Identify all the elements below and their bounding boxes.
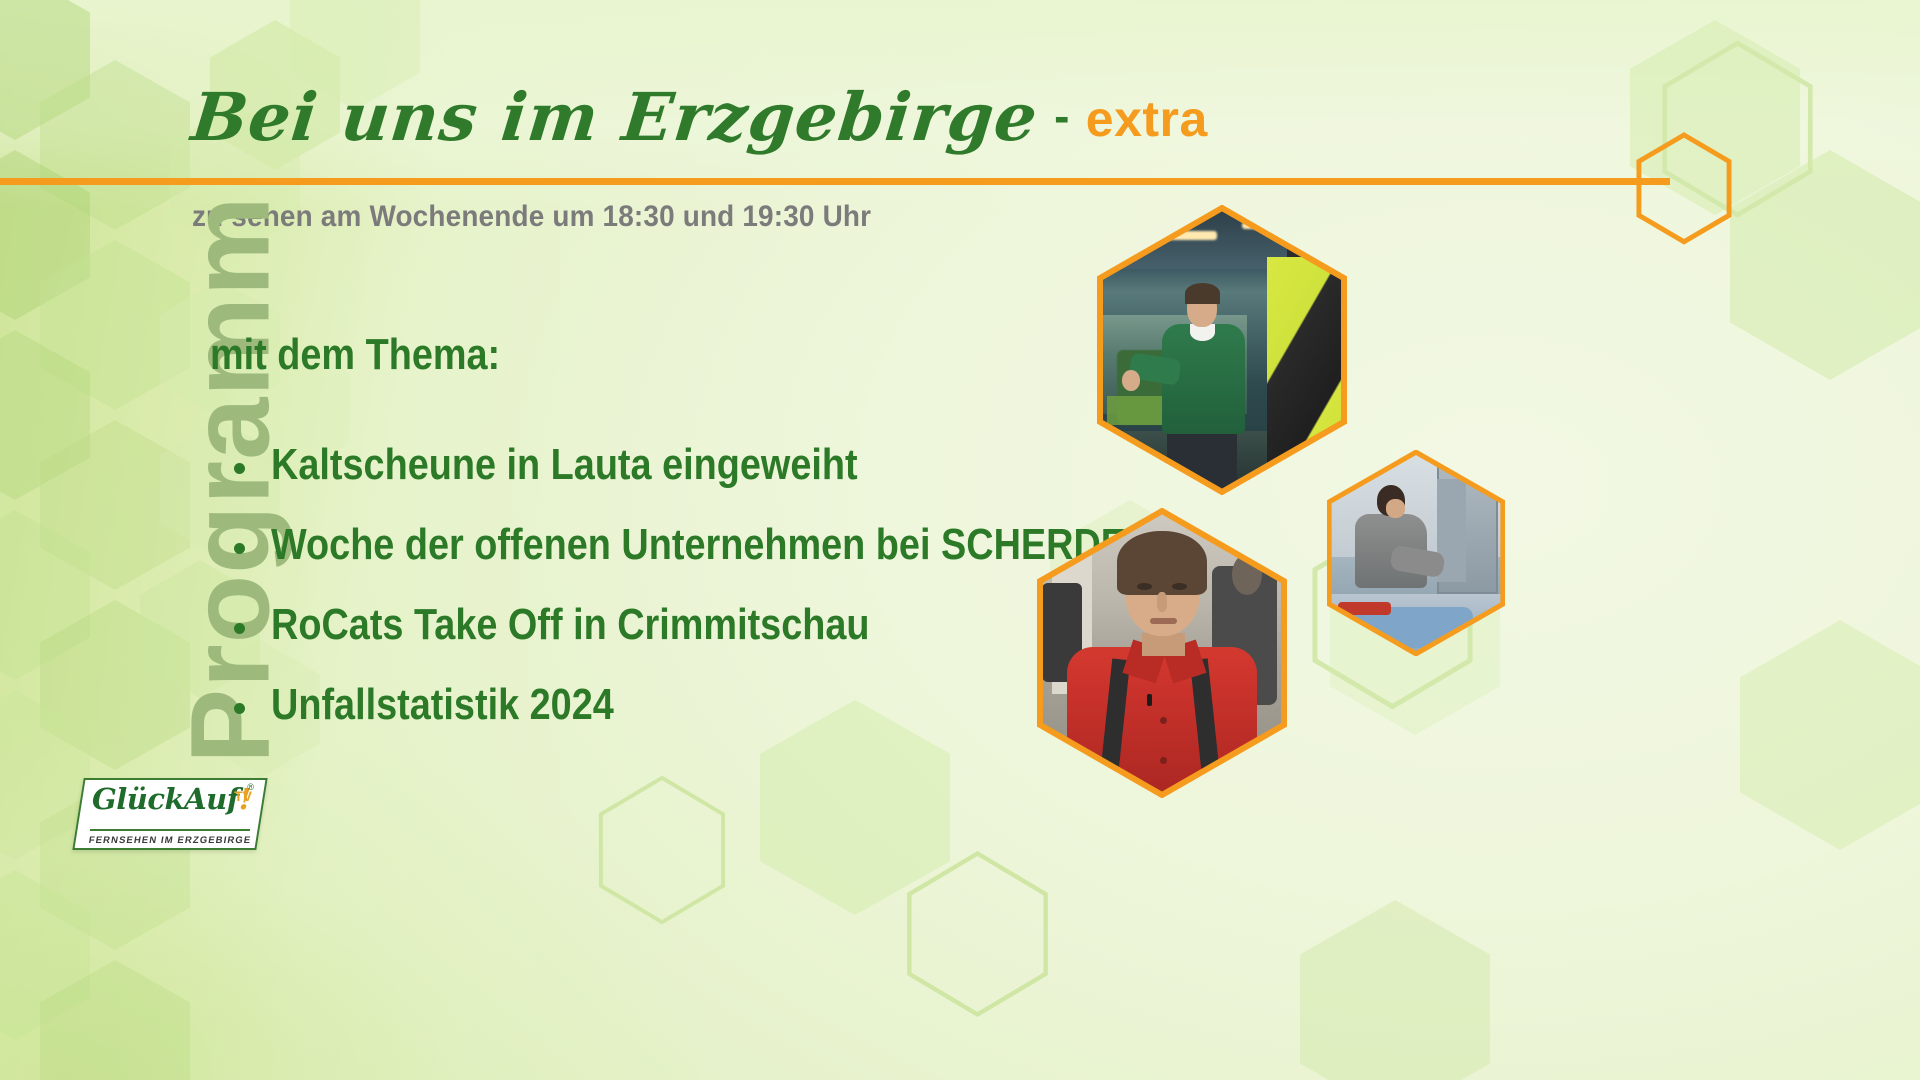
logo-divider (90, 829, 250, 831)
hexagon-decor (1300, 900, 1490, 1080)
logo-name-text: GlückAuf (92, 782, 239, 816)
broadcast-slide: Bei uns im Erzgebirge-extra zu sehen am … (0, 0, 1920, 1080)
logo-wordmark: GlückAuf! (92, 782, 251, 816)
topic-text: Unfallstatistik 2024 (271, 665, 614, 745)
topics-intro-label: mit dem Thema: (210, 330, 500, 380)
header-hexagon-icon (1635, 132, 1733, 230)
topic-text: Woche der offenen Unternehmen bei SCHERD… (271, 505, 1149, 585)
logo-tv-text: TV (234, 788, 252, 804)
topic-text: RoCats Take Off in Crimmitschau (271, 585, 870, 665)
logo-tagline: FERNSEHEN IM ERZGEBIRGE (77, 835, 263, 846)
title-main-text: Bei uns im Erzgebirge (188, 78, 1042, 156)
title-dash: - (1054, 89, 1070, 143)
hexagon-decor (1740, 620, 1920, 850)
hexagon-outline-decor (905, 850, 1050, 1018)
title-accent-text: extra (1086, 90, 1208, 148)
topic-text: Kaltscheune in Lauta eingeweiht (271, 425, 858, 505)
hexagon-outline-decor (597, 775, 727, 925)
station-logo: GlückAuf! ® TV FERNSEHEN IM ERZGEBIRGE (78, 778, 262, 850)
page-title: Bei uns im Erzgebirge-extra (188, 78, 1212, 156)
